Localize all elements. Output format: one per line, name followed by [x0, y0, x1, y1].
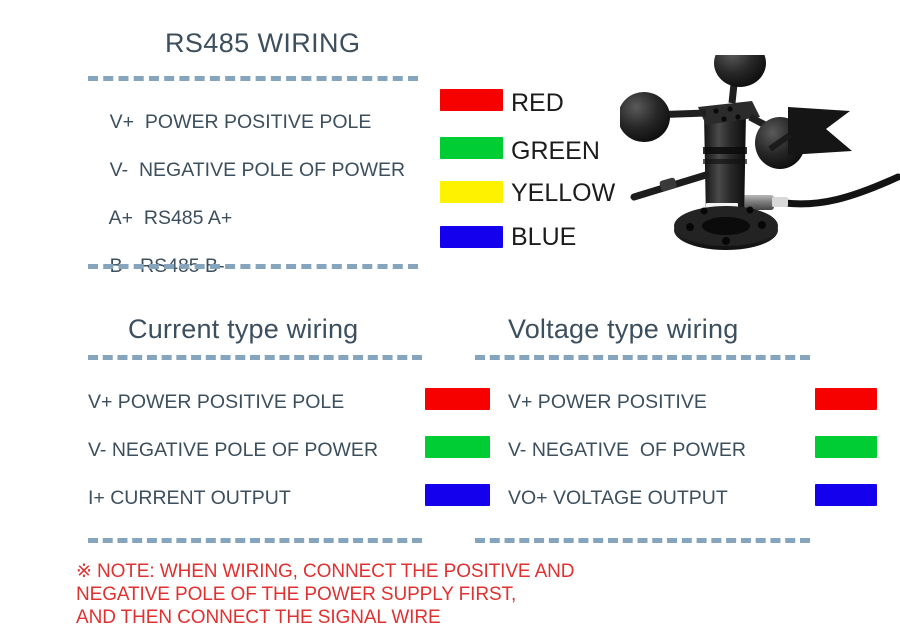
voltage-type-divider-bottom	[475, 538, 810, 543]
rs485-row-description: POWER POSITIVE POLE	[145, 111, 371, 133]
voltage-type-swatch-green	[815, 436, 877, 458]
cup-arm-top	[732, 65, 736, 103]
rs485-divider-top	[88, 76, 418, 81]
current-type-divider-bottom	[88, 538, 422, 543]
current-type-title: Current type wiring	[128, 314, 358, 345]
voltage-type-title: Voltage type wiring	[508, 314, 738, 345]
cup-arm-left	[650, 113, 706, 115]
wiring-note: ※ NOTE: WHEN WIRING, CONNECT THE POSITIV…	[76, 560, 776, 629]
anemometer-cup-top	[714, 55, 766, 87]
rs485-section: RS485 WIRING V+ POWER POSITIVE POLE V- N…	[0, 0, 650, 290]
voltage-type-row-label: V+ POWER POSITIVE	[508, 393, 707, 413]
voltage-type-swatch-red	[815, 388, 877, 410]
rs485-row-code: A+	[109, 207, 133, 229]
rs485-legend-swatch-red	[440, 89, 503, 111]
voltage-type-divider-top	[475, 355, 810, 360]
rs485-legend-label-green: GREEN	[511, 139, 600, 164]
mounting-flange	[674, 210, 778, 250]
current-type-row-label: V- NEGATIVE POLE OF POWER	[88, 441, 378, 461]
current-type-row-label: V+ POWER POSITIVE POLE	[88, 393, 344, 413]
voltage-type-swatch-blue	[815, 484, 877, 506]
rs485-row-code: V-	[110, 159, 128, 181]
rs485-section-title: RS485 WIRING	[165, 28, 360, 59]
voltage-type-section: Voltage type wiring V+ POWER POSITIVE V-…	[450, 300, 900, 530]
rs485-legend-swatch-green	[440, 137, 503, 159]
current-type-divider-top	[88, 355, 422, 360]
rs485-divider-bottom	[88, 264, 418, 269]
cable-connector	[740, 195, 774, 210]
voltage-type-row-label: VO+ VOLTAGE OUTPUT	[508, 489, 728, 509]
cup-hub	[698, 101, 760, 125]
current-type-section: Current type wiring V+ POWER POSITIVE PO…	[0, 300, 450, 530]
rs485-row-description: NEGATIVE POLE OF POWER	[139, 159, 405, 181]
sensor-body	[704, 113, 746, 221]
rs485-legend-swatch-blue	[440, 226, 503, 248]
anemometer-cup-right	[755, 117, 805, 169]
wind-vane-fin	[788, 107, 852, 155]
cup-arm-right	[750, 117, 780, 133]
anemometer-product-image	[620, 55, 900, 290]
anemometer-illustration	[620, 55, 900, 290]
rs485-legend-label-yellow: YELLOW	[511, 181, 615, 206]
sensor-label	[706, 203, 738, 216]
sensor-cable	[785, 177, 898, 204]
current-type-row-label: I+ CURRENT OUTPUT	[88, 489, 291, 509]
rs485-row-code: V+	[110, 111, 134, 133]
rs485-row-description: RS485 A+	[144, 207, 232, 229]
rs485-legend-label-red: RED	[511, 91, 564, 116]
voltage-type-row-label: V- NEGATIVE OF POWER	[508, 441, 746, 461]
wind-vane-shaft	[770, 135, 790, 149]
rs485-legend-label-blue: BLUE	[511, 225, 576, 250]
rs485-legend-swatch-yellow	[440, 181, 503, 203]
